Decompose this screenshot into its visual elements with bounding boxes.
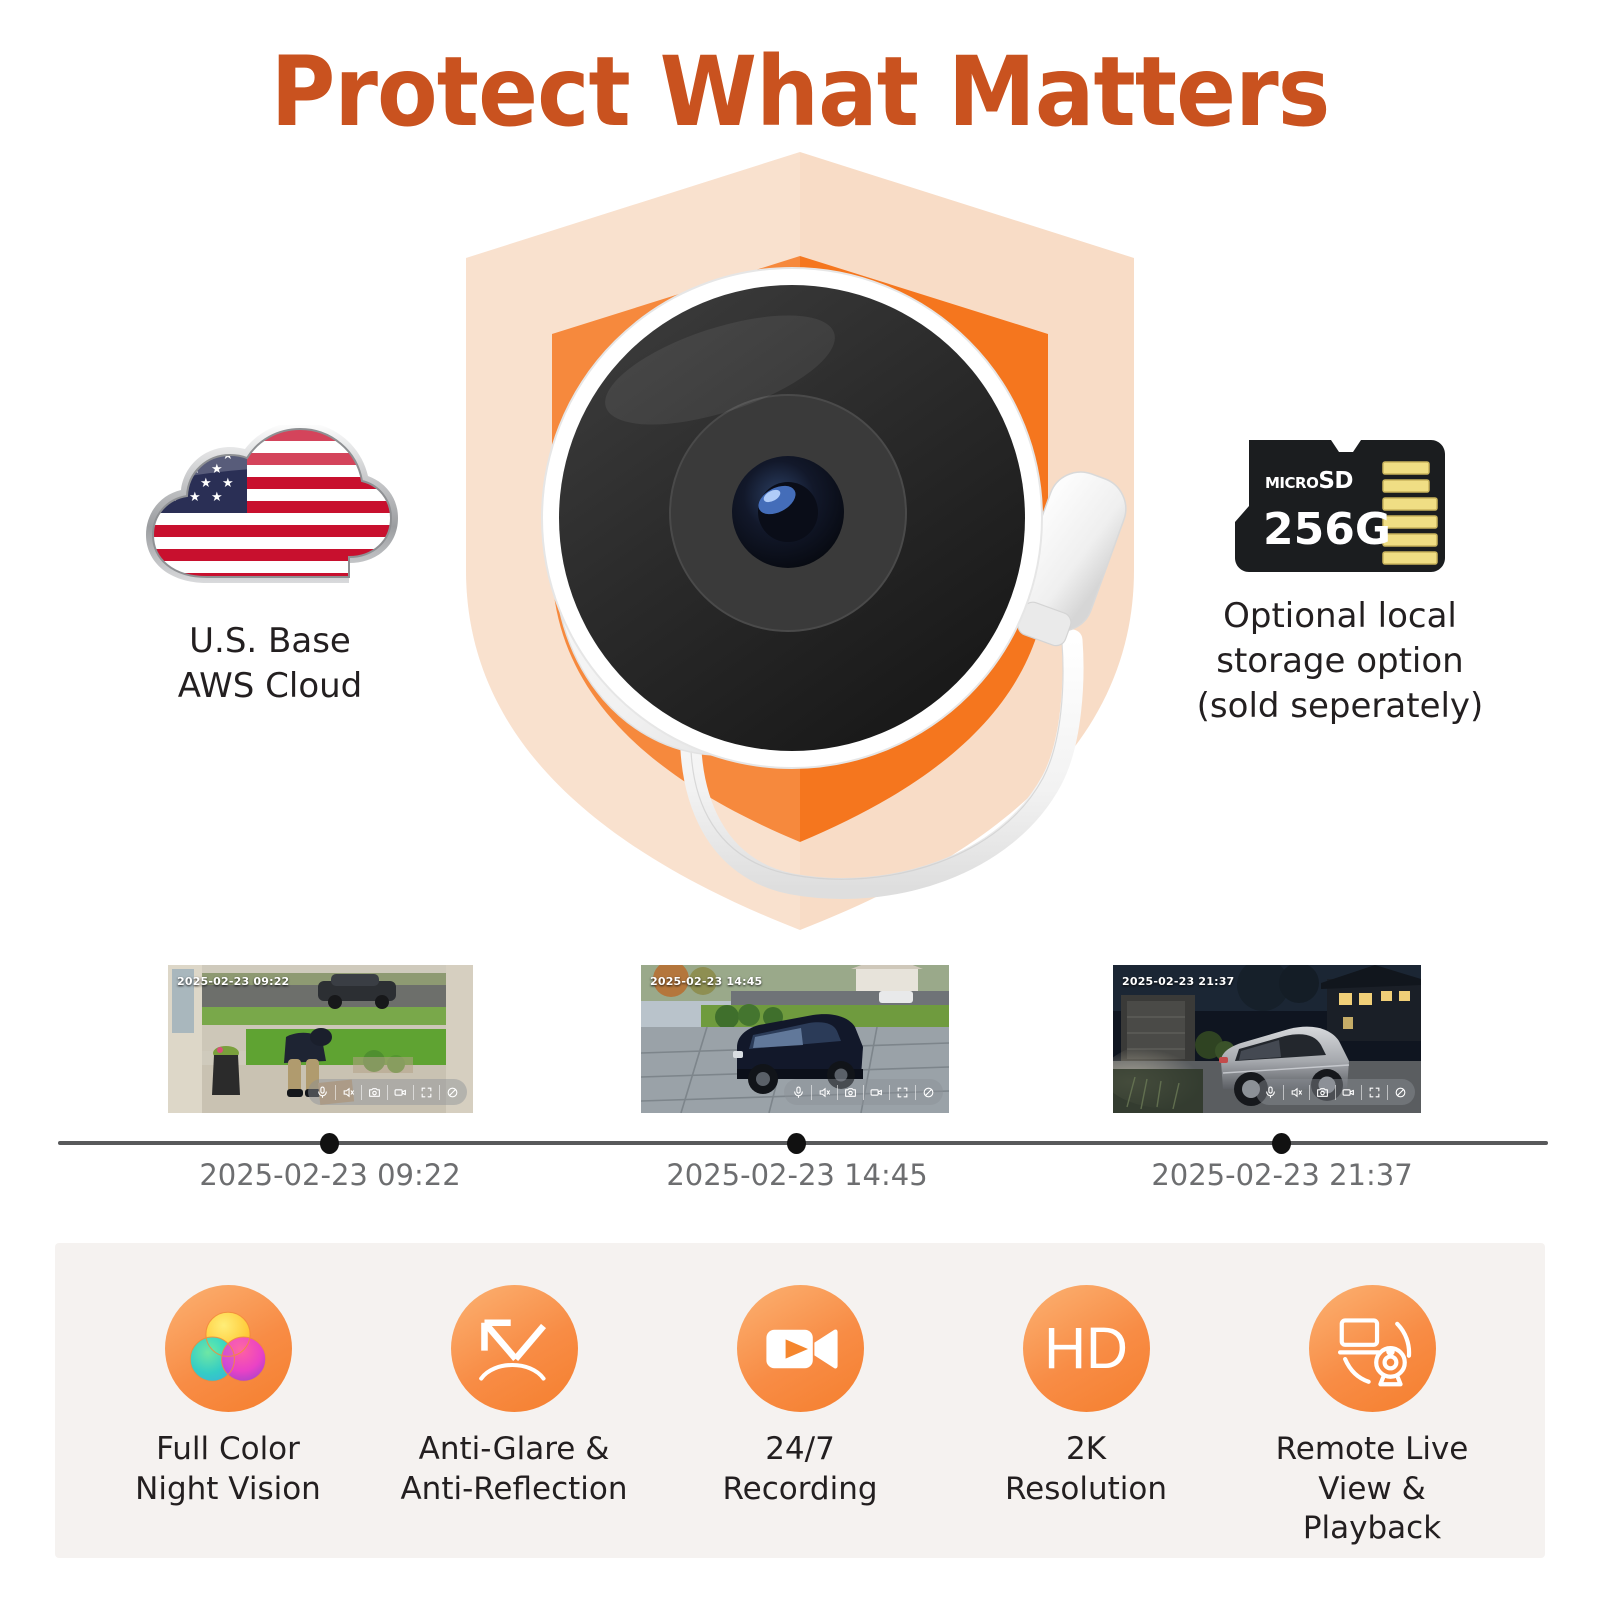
- feature-panel: Full Color Night Vision Anti-Gl: [55, 1243, 1545, 1558]
- feature-247-recording[interactable]: 24/7 Recording: [675, 1285, 925, 1509]
- cloud-caption: U.S. Base AWS Cloud: [60, 619, 480, 709]
- svg-text:★: ★: [178, 448, 190, 463]
- speaker-mute-icon[interactable]: [1284, 1080, 1309, 1104]
- svg-text:★: ★: [167, 434, 179, 449]
- fullscreen-icon[interactable]: [890, 1080, 915, 1104]
- privacy-off-icon[interactable]: [440, 1080, 465, 1104]
- fullscreen-icon[interactable]: [414, 1080, 439, 1104]
- clip-thumbnail-1[interactable]: 2025-02-23 09:22: [168, 965, 473, 1113]
- snapshot-icon[interactable]: [838, 1080, 863, 1104]
- record-icon[interactable]: [1336, 1080, 1361, 1104]
- feature-label: Anti-Glare & Anti-Reflection: [389, 1430, 639, 1509]
- timeline-dot-3[interactable]: [1272, 1133, 1291, 1154]
- clip-timestamp-overlay: 2025-02-23 21:37: [1122, 975, 1234, 988]
- microphone-icon[interactable]: [786, 1080, 811, 1104]
- feature-remote-live-view[interactable]: Remote Live View & Playback: [1247, 1285, 1497, 1549]
- hero-illustration: [420, 140, 1180, 940]
- sd-brand-micro: MICRO: [1265, 474, 1318, 492]
- snapshot-icon[interactable]: [362, 1080, 387, 1104]
- timeline-dot-2[interactable]: [787, 1133, 806, 1154]
- clip-control-bar[interactable]: [308, 1079, 467, 1105]
- microphone-icon[interactable]: [310, 1080, 335, 1104]
- clip-control-bar[interactable]: [1256, 1079, 1415, 1105]
- fullscreen-icon[interactable]: [1362, 1080, 1387, 1104]
- feature-icon-badge: [1309, 1285, 1436, 1412]
- timeline-label-3: 2025-02-23 21:37: [1072, 1158, 1492, 1192]
- usa-flag-cloud-icon: ★★★★ ★★★★ ★★★★ ★★★★ ★★★★: [135, 425, 405, 600]
- snapshot-icon[interactable]: [1310, 1080, 1335, 1104]
- sdcard-caption: Optional local storage option (sold sepe…: [1130, 594, 1550, 729]
- speaker-mute-icon[interactable]: [336, 1080, 361, 1104]
- clip-timestamp-overlay: 2025-02-23 14:45: [650, 975, 762, 988]
- sd-capacity: 256G: [1263, 504, 1391, 555]
- svg-text:★: ★: [189, 434, 201, 449]
- svg-text:★: ★: [211, 434, 223, 449]
- sd-brand-sd: SD: [1318, 468, 1353, 494]
- timeline-label-2: 2025-02-23 14:45: [587, 1158, 1007, 1192]
- anti-glare-reflection-icon: [473, 1308, 555, 1390]
- timeline-label-1: 2025-02-23 09:22: [120, 1158, 540, 1192]
- svg-text:★: ★: [145, 462, 157, 477]
- feature-label: 24/7 Recording: [675, 1430, 925, 1509]
- remote-live-view-icon: [1330, 1307, 1414, 1391]
- microphone-icon[interactable]: [1258, 1080, 1283, 1104]
- clip-control-bar[interactable]: [784, 1079, 943, 1105]
- svg-text:★: ★: [200, 476, 212, 491]
- svg-text:★: ★: [211, 490, 223, 505]
- feature-icon-badge: [165, 1285, 292, 1412]
- record-icon[interactable]: [864, 1080, 889, 1104]
- privacy-off-icon[interactable]: [916, 1080, 941, 1104]
- feature-full-color-night-vision[interactable]: Full Color Night Vision: [103, 1285, 353, 1509]
- feature-2k-resolution[interactable]: HD 2K Resolution: [961, 1285, 1211, 1509]
- feature-icon-badge: HD: [1023, 1285, 1150, 1412]
- clip-thumbnail-2[interactable]: 2025-02-23 14:45: [641, 965, 949, 1113]
- feature-label: 2K Resolution: [961, 1430, 1211, 1509]
- svg-text:★: ★: [156, 476, 168, 491]
- hd-text-icon: HD: [1044, 1315, 1128, 1382]
- timeline-dot-1[interactable]: [320, 1133, 339, 1154]
- feature-label: Remote Live View & Playback: [1247, 1430, 1497, 1549]
- video-record-icon: [760, 1309, 840, 1389]
- svg-text:★: ★: [156, 448, 168, 463]
- rgb-color-circles-icon: [182, 1303, 274, 1395]
- clip-timestamp-overlay: 2025-02-23 09:22: [177, 975, 289, 988]
- svg-text:★: ★: [189, 490, 201, 505]
- record-icon[interactable]: [388, 1080, 413, 1104]
- feature-list: Full Color Night Vision Anti-Gl: [55, 1243, 1545, 1558]
- side-feature-cloud: ★★★★ ★★★★ ★★★★ ★★★★ ★★★★ U.S. Base AWS C…: [60, 425, 480, 709]
- svg-text:★: ★: [167, 462, 179, 477]
- feature-icon-badge: [451, 1285, 578, 1412]
- svg-text:★: ★: [145, 434, 157, 449]
- feature-label: Full Color Night Vision: [103, 1430, 353, 1509]
- side-feature-sdcard: MICROSD 256G Optional local storage opti…: [1130, 440, 1550, 729]
- clip-thumbnail-3[interactable]: 2025-02-23 21:37: [1113, 965, 1421, 1113]
- security-camera: [420, 140, 1180, 940]
- speaker-mute-icon[interactable]: [812, 1080, 837, 1104]
- svg-text:★: ★: [145, 490, 157, 505]
- feature-icon-badge: [737, 1285, 864, 1412]
- product-infographic: Protect What Matters: [0, 0, 1600, 1600]
- privacy-off-icon[interactable]: [1388, 1080, 1413, 1104]
- svg-text:★: ★: [222, 476, 234, 491]
- feature-anti-glare[interactable]: Anti-Glare & Anti-Reflection: [389, 1285, 639, 1509]
- page-title: Protect What Matters: [64, 42, 1536, 143]
- microsd-card-icon: MICROSD 256G: [1235, 440, 1445, 575]
